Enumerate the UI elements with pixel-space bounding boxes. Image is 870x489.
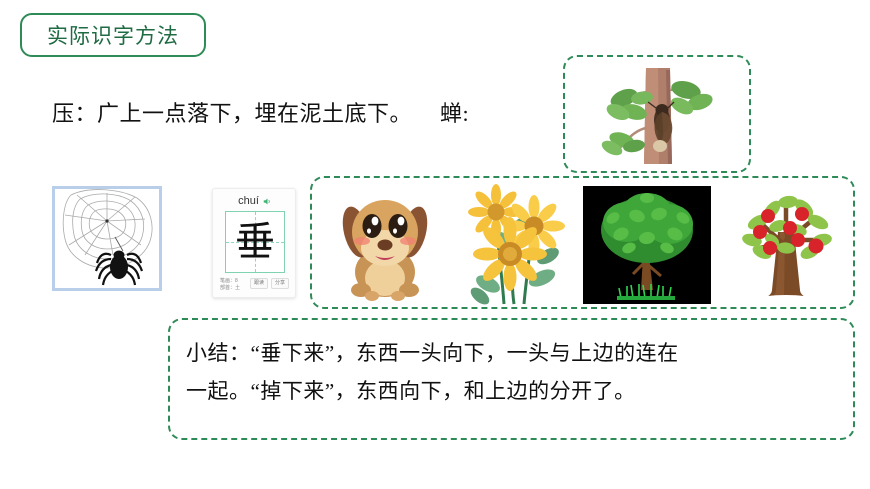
summary-line-1: 小结：“垂下来”，东西一头向下，一头与上边的连在 xyxy=(186,334,841,372)
summary-text: 小结：“垂下来”，东西一头向下，一头与上边的连在 一起。“掉下来”，东西向下，和… xyxy=(186,334,841,410)
card-buttons: 跟读 分享 xyxy=(250,278,289,289)
page-title: 实际识字方法 xyxy=(47,20,179,50)
apple-tree-illustration xyxy=(728,186,844,304)
dark-tree-illustration xyxy=(583,186,711,304)
speaker-icon[interactable] xyxy=(263,197,272,206)
spider-web-illustration xyxy=(55,189,159,288)
character-grid: 垂 xyxy=(225,211,285,273)
apple-tree-image xyxy=(728,186,844,304)
cicada-illustration xyxy=(600,68,718,164)
slide-root: 实际识字方法 压：广上一点落下，埋在泥土底下。蝉: xyxy=(0,0,870,489)
card-read-button[interactable]: 跟读 xyxy=(250,278,268,289)
explanation-text: 广上一点落下，埋在泥土底下。 xyxy=(97,101,412,126)
cicada-image xyxy=(600,68,718,164)
card-character: 垂 xyxy=(226,212,284,272)
card-pinyin-row: chuí xyxy=(213,193,296,209)
explanation-character: 压： xyxy=(52,101,97,126)
spider-web-image-frame xyxy=(52,186,162,291)
explanation-second-label: 蝉: xyxy=(440,101,469,126)
dark-tree-image xyxy=(583,186,711,304)
summary-line-2: 一起。“掉下来”，东西向下，和上边的分开了。 xyxy=(186,372,841,410)
sunflower-image xyxy=(458,184,570,306)
character-card[interactable]: chuí 垂 笔画：8 部首：土 跟读 分享 xyxy=(212,188,296,298)
card-share-button[interactable]: 分享 xyxy=(271,278,289,289)
card-pinyin: chuí xyxy=(238,195,259,207)
card-meta-strokes: 笔画：8 xyxy=(220,278,254,285)
card-meta: 笔画：8 部首：土 xyxy=(220,278,254,292)
sunflower-illustration xyxy=(458,184,570,306)
explanation-line: 压：广上一点落下，埋在泥土底下。蝉: xyxy=(52,96,469,128)
dog-image xyxy=(325,186,445,301)
dog-illustration xyxy=(325,186,445,301)
page-title-chip: 实际识字方法 xyxy=(20,13,206,57)
card-meta-radical: 部首：土 xyxy=(220,285,254,292)
spider-web-image xyxy=(55,189,159,288)
